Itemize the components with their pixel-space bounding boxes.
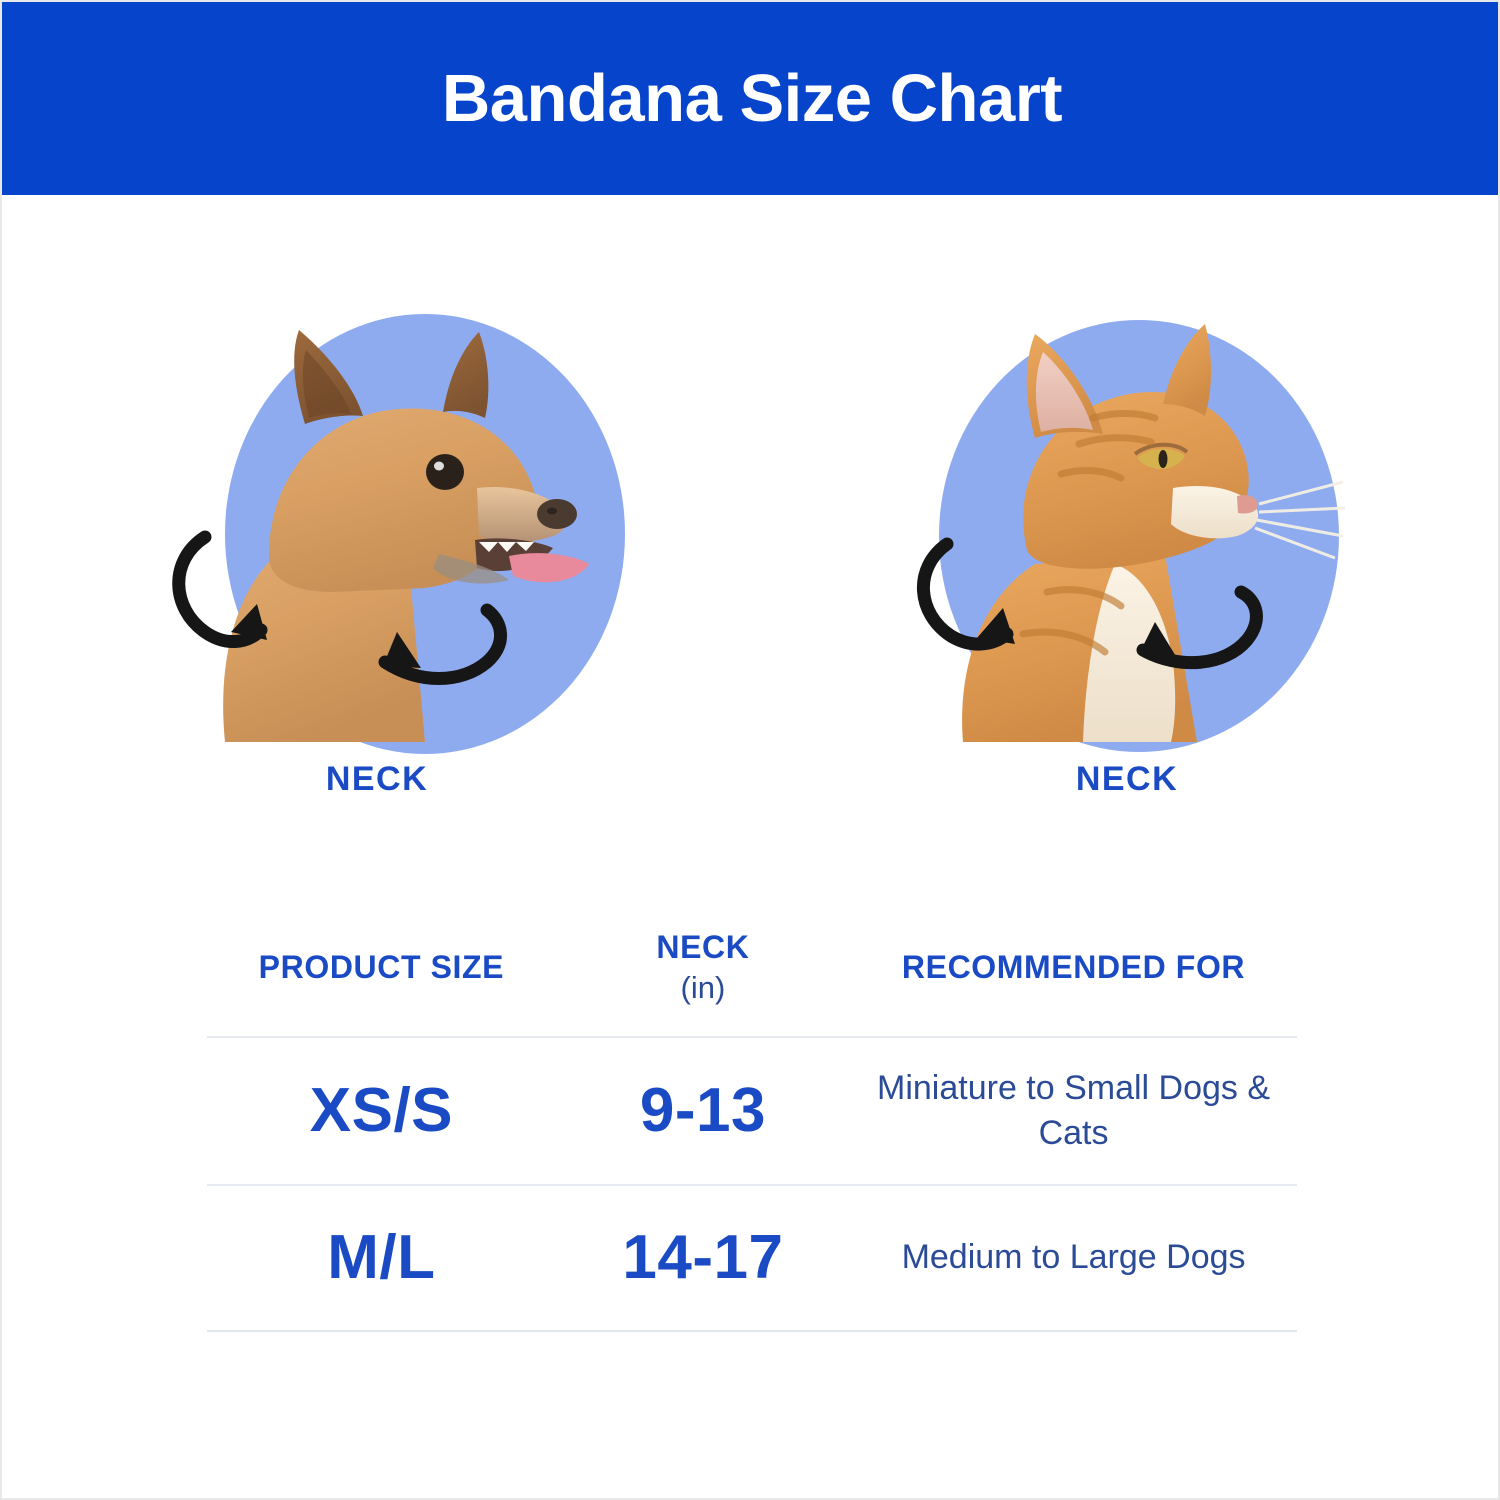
page-title: Bandana Size Chart (442, 60, 1062, 137)
illustration-row: NECK (2, 292, 1500, 832)
column-header-neck: NECK (in) (556, 927, 850, 1008)
column-header-product-size: PRODUCT SIZE (207, 947, 556, 988)
table-row: XS/S 9-13 Miniature to Small Dogs & Cats (207, 1036, 1297, 1184)
bandana-size-chart-page: Bandana Size Chart (0, 0, 1500, 1500)
row-0-neck: 9-13 (556, 1077, 850, 1145)
column-header-neck-unit: (in) (556, 968, 850, 1008)
dog-neck-label: NECK (326, 760, 428, 799)
row-1-size: M/L (207, 1224, 556, 1292)
cat-photo (907, 292, 1347, 742)
cat-illustration-panel: NECK (752, 292, 1500, 832)
row-1-neck: 14-17 (556, 1224, 850, 1292)
column-header-neck-label: NECK (656, 929, 749, 965)
column-header-product-size-label: PRODUCT SIZE (259, 949, 504, 985)
column-header-recommended-for-label: RECOMMENDED FOR (902, 949, 1245, 985)
size-table: PRODUCT SIZE NECK (in) RECOMMENDED FOR X… (207, 927, 1297, 1332)
row-1-recommended: Medium to Large Dogs (850, 1235, 1297, 1280)
cat-neck-label: NECK (1076, 760, 1178, 799)
dog-figure (157, 292, 597, 742)
table-header-row: PRODUCT SIZE NECK (in) RECOMMENDED FOR (207, 927, 1297, 1036)
dog-photo (157, 292, 597, 742)
column-header-recommended-for: RECOMMENDED FOR (850, 947, 1297, 988)
cat-figure (907, 292, 1347, 742)
table-row: M/L 14-17 Medium to Large Dogs (207, 1184, 1297, 1332)
row-0-size: XS/S (207, 1077, 556, 1145)
header-banner: Bandana Size Chart (2, 2, 1500, 195)
row-0-recommended: Miniature to Small Dogs & Cats (850, 1066, 1297, 1156)
dog-illustration-panel: NECK (2, 292, 752, 832)
